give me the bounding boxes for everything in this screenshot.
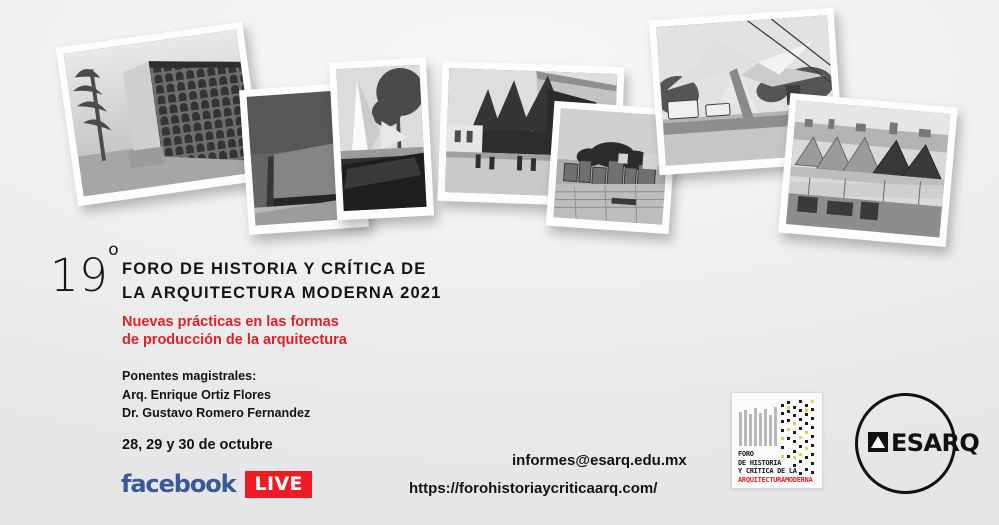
poster-subtitle: Nuevas prácticas en las formas de produc… [122, 313, 347, 349]
foro-logo-text: FORO DE HISTORIA Y CRÍTICA DE LA ARQUITE… [738, 450, 812, 484]
event-dates: 28, 29 y 30 de octubre [122, 437, 273, 453]
esarq-logo: ESARQ [855, 408, 958, 480]
speaker-name-1: Arq. Enrique Ortiz Flores [122, 386, 310, 405]
foro-logo-line-1: FORO [738, 450, 812, 458]
subtitle-line-2: de producción de la arquitectura [122, 331, 347, 349]
contact-url[interactable]: https://forohistoriaycriticaarq.com/ [409, 480, 657, 497]
facebook-live-badge[interactable]: facebook LIVE [121, 470, 312, 498]
subtitle-line-1: Nuevas prácticas en las formas [122, 313, 347, 331]
triangle-in-square-icon [868, 432, 888, 452]
title-line-1: FORO DE HISTORIA Y CRÍTICA DE [122, 258, 441, 282]
poster-text: 19o FORO DE HISTORIA Y CRÍTICA DE LA ARQ… [0, 0, 999, 525]
title-line-2: LA ARQUITECTURA MODERNA 2021 [122, 282, 441, 306]
edition-ordinal: o [108, 240, 118, 260]
page-title: FORO DE HISTORIA Y CRÍTICA DE LA ARQUITE… [122, 258, 441, 305]
facebook-wordmark: facebook [121, 470, 235, 498]
triangle-glyph [871, 436, 885, 448]
esarq-wordmark: ESARQ [891, 429, 979, 457]
speakers-label: Ponentes magistrales: [122, 367, 310, 386]
foro-logo-line-3: Y CRÍTICA DE LA [738, 467, 812, 475]
speaker-name-2: Dr. Gustavo Romero Fernandez [122, 404, 310, 423]
foro-logo-line-2: DE HISTORIA [738, 459, 812, 467]
edition-number: 19o [50, 248, 119, 298]
foro-logo-line-4: ARQUITECTURAMODERNA [738, 476, 812, 484]
event-poster: 19o FORO DE HISTORIA Y CRÍTICA DE LA ARQ… [0, 0, 999, 525]
edition-number-value: 19 [50, 249, 108, 302]
live-badge: LIVE [245, 471, 311, 498]
contact-email[interactable]: informes@esarq.edu.mx [512, 452, 687, 469]
speakers-block: Ponentes magistrales: Arq. Enrique Ortiz… [122, 367, 310, 423]
foro-logo: FORO DE HISTORIA Y CRÍTICA DE LA ARQUITE… [731, 392, 823, 489]
